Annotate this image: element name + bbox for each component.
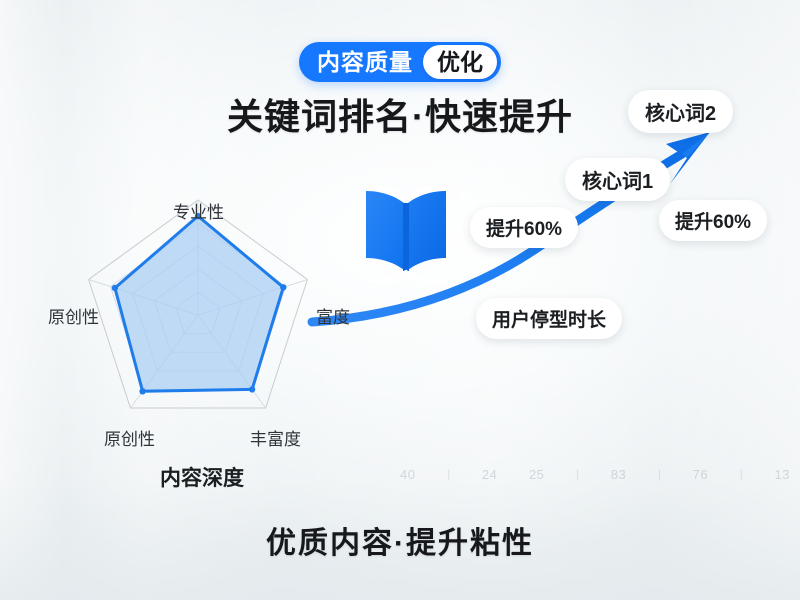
slide-canvas: 内容质量 优化 关键词排名·快速提升	[0, 0, 800, 600]
scale-tick-mark: |	[447, 467, 450, 481]
badge-main-label: 内容质量	[299, 42, 423, 82]
badge-chip-label: 优化	[423, 45, 497, 79]
footer-title: 优质内容·提升粘性	[0, 518, 800, 562]
callout-core-keyword-1[interactable]: 核心词1	[565, 158, 670, 201]
scale-tick-number: 40	[400, 467, 415, 482]
scale-tick-mark: |	[576, 467, 579, 481]
radar-axis-label-left: 原创性	[48, 303, 99, 328]
radar-axis-label-bottom-left: 原创性	[104, 425, 155, 450]
callout-boost-left[interactable]: 提升60%	[470, 207, 578, 248]
axis-scale-strip: 40|2425|83|76|13	[400, 462, 790, 486]
radar-caption: 内容深度	[160, 462, 244, 492]
scale-tick-number: 13	[774, 467, 789, 482]
scale-tick-number: 83	[611, 467, 626, 482]
callout-dwell-time[interactable]: 用户停型时长	[476, 298, 622, 339]
open-book-icon	[358, 182, 454, 282]
scale-tick-number: 25	[529, 467, 544, 482]
radar-axis-label-right: 富度	[316, 303, 350, 328]
scale-tick-mark: |	[740, 467, 743, 481]
callout-core-keyword-2[interactable]: 核心词2	[628, 90, 733, 133]
radar-axis-label-top: 专业性	[173, 198, 224, 223]
scale-tick-mark: |	[658, 467, 661, 481]
radar-axis-label-bottom-right: 丰富度	[250, 425, 301, 450]
scale-tick-number: 76	[693, 467, 708, 482]
radar-chart: 专业性 富度 丰富度 原创性 原创性	[28, 190, 368, 480]
scale-tick-number: 24	[482, 467, 497, 482]
callout-boost-right[interactable]: 提升60%	[659, 200, 767, 241]
content-quality-badge[interactable]: 内容质量 优化	[299, 42, 501, 82]
